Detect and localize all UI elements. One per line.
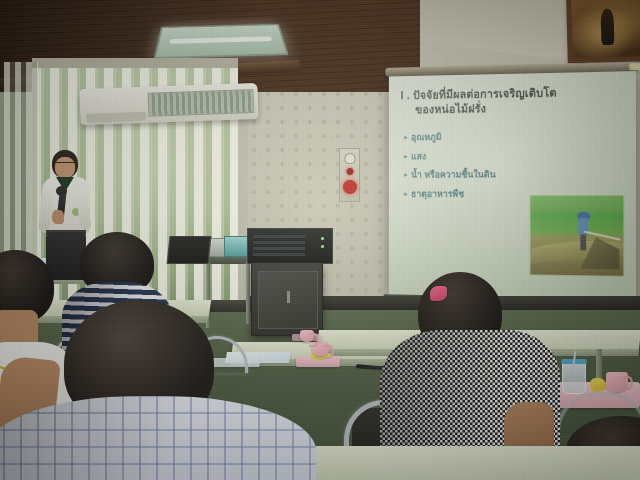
bullet-text: น้ำ หรือความชื้นในดิน [411, 169, 496, 182]
alarm-indicator-small-icon [346, 168, 353, 175]
conference-table [276, 446, 640, 480]
wall-mounted-air-conditioner [79, 83, 258, 125]
screen-roller-knob[interactable] [629, 63, 640, 70]
status-led-icon [321, 245, 324, 248]
plastic-cup-with-straw[interactable] [562, 362, 586, 394]
av-front-panel [253, 234, 305, 256]
farmer-legs [580, 235, 586, 251]
pink-hair-clip-icon [430, 286, 447, 301]
yellow-snack [590, 378, 606, 392]
framed-painting [566, 0, 640, 63]
slide-title: I . ปัจจัยที่มีผลต่อการเจริญเติบโต ของหน… [401, 85, 623, 118]
microphone-head-icon [56, 186, 67, 196]
ac-vent [86, 112, 146, 123]
laptop-computer[interactable] [167, 236, 212, 264]
list-item: ▸ อุณหภูมิ [404, 130, 582, 145]
alarm-bell-icon [344, 153, 355, 164]
light-tube [169, 36, 273, 44]
bullet-marker-icon: ▸ [404, 150, 407, 162]
projection-screen: I . ปัจจัยที่มีผลต่อการเจริญเติบโต ของหน… [389, 71, 636, 299]
presenter-face [55, 157, 75, 178]
painting-figure [601, 9, 615, 45]
ac-grill-icon [148, 89, 255, 117]
presenter-hand [52, 210, 64, 224]
attendee-plaid-shirt-foreground [0, 300, 316, 480]
alarm-indicator-large-icon [343, 180, 357, 194]
fire-alarm-panel[interactable] [339, 148, 360, 202]
av-rack-unit [247, 228, 333, 264]
recessed-fluorescent-light-icon [154, 24, 289, 59]
power-led-icon [321, 237, 324, 240]
slide-title-line2: ของหน่อไม้ฝรั่ง [415, 100, 622, 118]
screenshot-root: I . ปัจจัยที่มีผลต่อการเจริญเติบโต ของหน… [0, 0, 640, 480]
glasses-icon [55, 162, 75, 167]
bullet-marker-icon: ▸ [404, 132, 407, 144]
bullet-text: ธาตุอาหารพืช [411, 188, 464, 201]
slide-title-line1: I . ปัจจัยที่มีผลต่อการเจริญเติบโต [401, 88, 557, 102]
attendee-shading [0, 396, 316, 480]
slide-photo: การพูนดิน [530, 195, 625, 277]
pink-coffee-mug[interactable] [606, 372, 628, 392]
bullet-text: อุณหภูมิ [411, 131, 441, 144]
list-item: ▸ น้ำ หรือความชื้นในดิน [404, 168, 582, 181]
list-item: ▸ แสง [404, 149, 582, 163]
blind-headrail [32, 58, 238, 68]
mug-handle [324, 345, 334, 359]
bullet-marker-icon: ▸ [404, 169, 407, 181]
bullet-text: แสง [411, 150, 426, 163]
bullet-marker-icon: ▸ [404, 188, 407, 200]
